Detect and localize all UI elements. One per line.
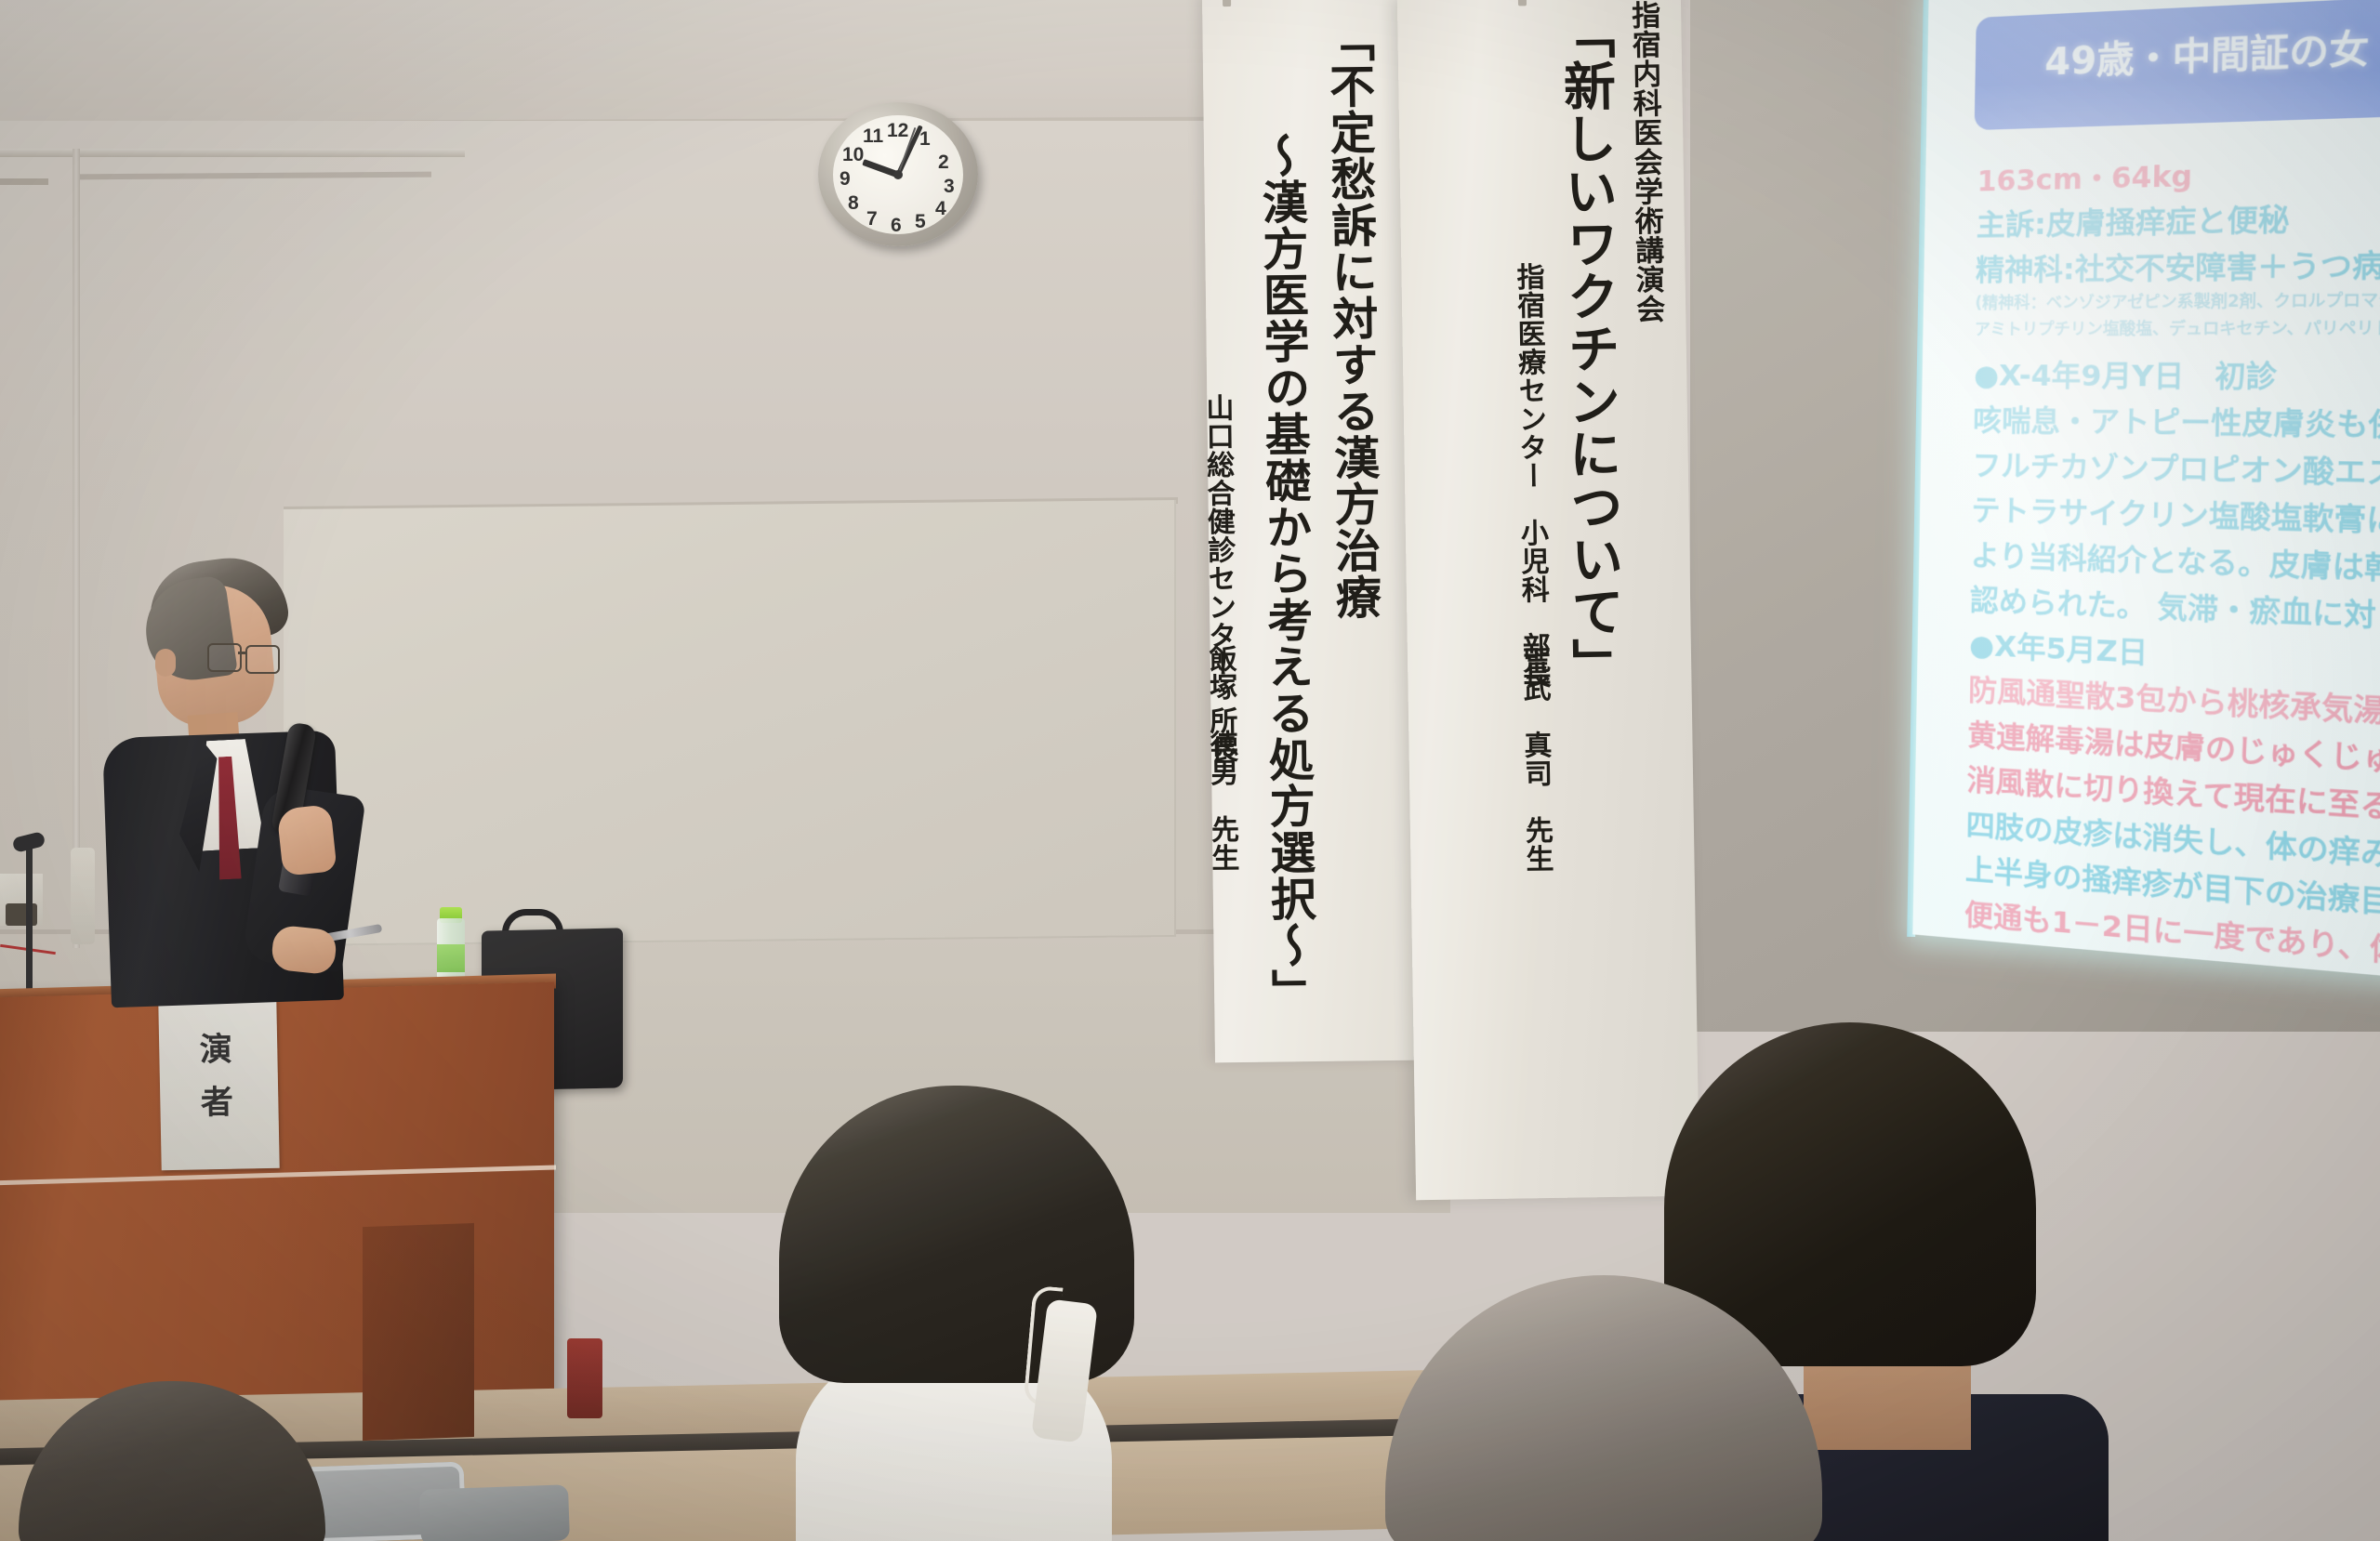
beam-stub	[0, 178, 48, 185]
clock-numeral: 1	[919, 129, 931, 149]
clock-numeral: 3	[944, 177, 955, 196]
banner-event-name: 指宿内科医会学術講演会	[1622, 0, 1669, 323]
banner-lecture2-speaker: 飯塚 徳男 先生	[1199, 644, 1243, 872]
slide-line: 精神科:社交不安障害＋うつ病(39歳	[1976, 239, 2380, 288]
clock-numeral: 12	[887, 121, 908, 140]
slide-line: 主訴:皮膚掻痒症と便秘	[1977, 194, 2290, 244]
slide-line: ●X-4年9月Y日 初診	[1974, 351, 2278, 396]
banner-lecture1-speaker: 荒武 真司 先生	[1513, 645, 1557, 873]
lecture-hall-photo: 12 1 2 3 4 5 6 7 8 9 10 11 49歳・中間証の女 163…	[0, 0, 2380, 1541]
speaker-person	[98, 558, 423, 994]
chair	[419, 1484, 570, 1541]
projected-slide: 49歳・中間証の女 163cm・64kg 主訴:皮膚掻痒症と便秘 精神科:社交不…	[1912, 0, 2380, 979]
clock-face: 12 1 2 3 4 5 6 7 8 9 10 11	[833, 115, 963, 234]
clock-numeral: 5	[915, 212, 926, 231]
banner-lecture1-title: 「新しいワクチンについて」	[1546, 7, 1633, 691]
clock-numeral: 2	[938, 152, 949, 172]
clock-numeral: 11	[863, 126, 883, 146]
microphone-stand	[26, 844, 33, 993]
ceiling-beam	[0, 149, 465, 157]
podium-speaker-sign: 演者	[158, 999, 279, 1170]
podium-sign-label: 演者	[199, 1032, 238, 1139]
clock-numeral: 4	[935, 199, 946, 218]
bottle-label	[437, 944, 465, 972]
microphone-holder	[71, 848, 95, 944]
banner-lecture2-subtitle: ～漢方医学の基礎から考える処方選択～」	[1248, 132, 1325, 1015]
clock-numeral: 9	[840, 169, 851, 189]
banner-lecture1-affiliation: 指宿医療センター 小児科 部長	[1506, 262, 1554, 690]
glasses-lens-right	[245, 645, 280, 674]
banner-hook-icon	[1518, 0, 1527, 6]
clock-numeral: 8	[848, 193, 859, 213]
speaker-ear	[155, 649, 176, 677]
banner-main: 指宿内科医会学術講演会 「新しいワクチンについて」 指宿医療センター 小児科 部…	[1397, 0, 1699, 1200]
wall-clock: 12 1 2 3 4 5 6 7 8 9 10 11	[818, 102, 982, 251]
podium-side-panel	[363, 1223, 474, 1441]
banner-lecture2-title: 「不定愁訴に対する漢方治療	[1315, 16, 1388, 621]
slide-line: ●X年5月Z日	[1969, 621, 2149, 671]
wall-pillar	[73, 149, 80, 948]
glasses-icon	[207, 643, 280, 671]
clock-center-hub	[893, 170, 903, 179]
banner-hook-icon	[1223, 0, 1231, 7]
glasses-bridge	[238, 652, 247, 654]
glasses-lens-left	[207, 643, 242, 672]
slide-line-small: (精神科：ベンゾジアゼピン系製剤2剤、クロルプロマジン、レボ	[1975, 285, 2380, 313]
clock-numeral: 6	[891, 216, 902, 235]
banner-secondary: 「不定愁訴に対する漢方治療 ～漢方医学の基礎から考える処方選択～」 山口総合健診…	[1202, 0, 1421, 1062]
slide-line-small: アミトリプチリン塩酸塩、デュロキセチン、パリペリドン、エスシタ	[1975, 313, 2380, 339]
clock-numeral: 10	[842, 145, 864, 165]
clock-numeral: 7	[866, 209, 878, 229]
slide-line: 163cm・64kg	[1977, 152, 2192, 200]
red-object	[567, 1338, 602, 1418]
slide-line: 咳喘息・アトピー性皮膚炎も併発しており	[1973, 396, 2380, 446]
speaker-hand-holding-mic	[276, 804, 337, 876]
